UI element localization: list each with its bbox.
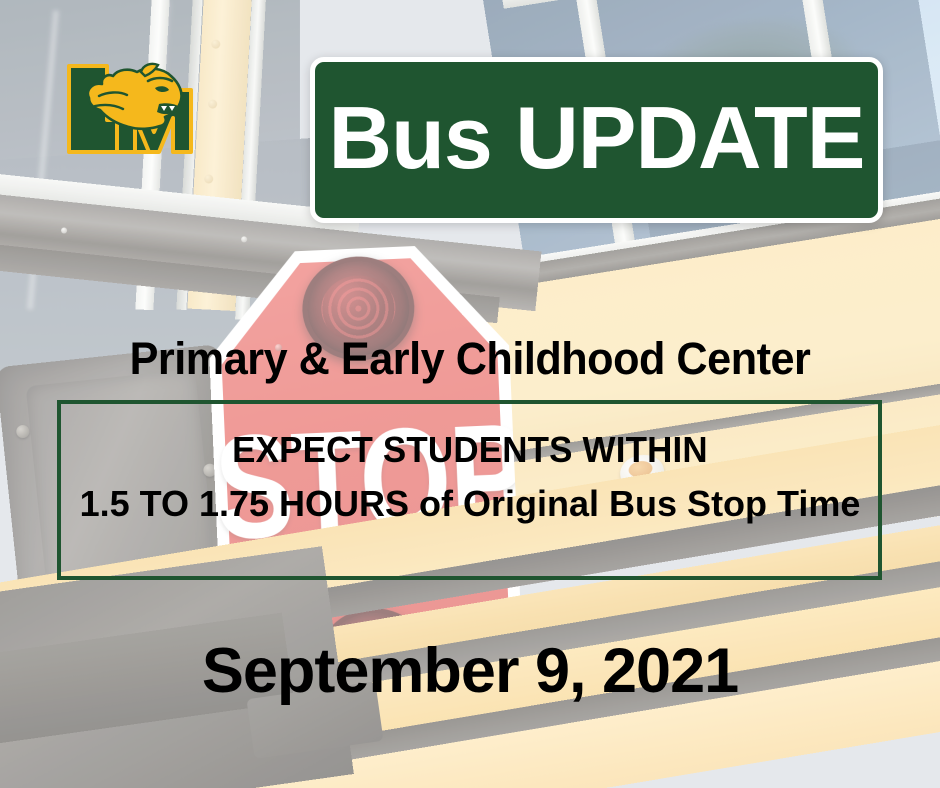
lm-wildcat-logo (55, 48, 205, 173)
page-headline: Primary & Early Childhood Center (19, 336, 921, 381)
poster-content: Bus UPDATE Primary & Early Childhood Cen… (0, 0, 940, 788)
bus-update-poster: STOP (0, 0, 940, 788)
date-label: September 9, 2021 (0, 640, 940, 703)
banner-title: Bus UPDATE (329, 94, 865, 182)
bus-update-banner: Bus UPDATE (310, 57, 883, 223)
notice-line-2: 1.5 TO 1.75 HOURS of Original Bus Stop T… (0, 486, 940, 522)
notice-line-1: EXPECT STUDENTS WITHIN (14, 432, 926, 468)
